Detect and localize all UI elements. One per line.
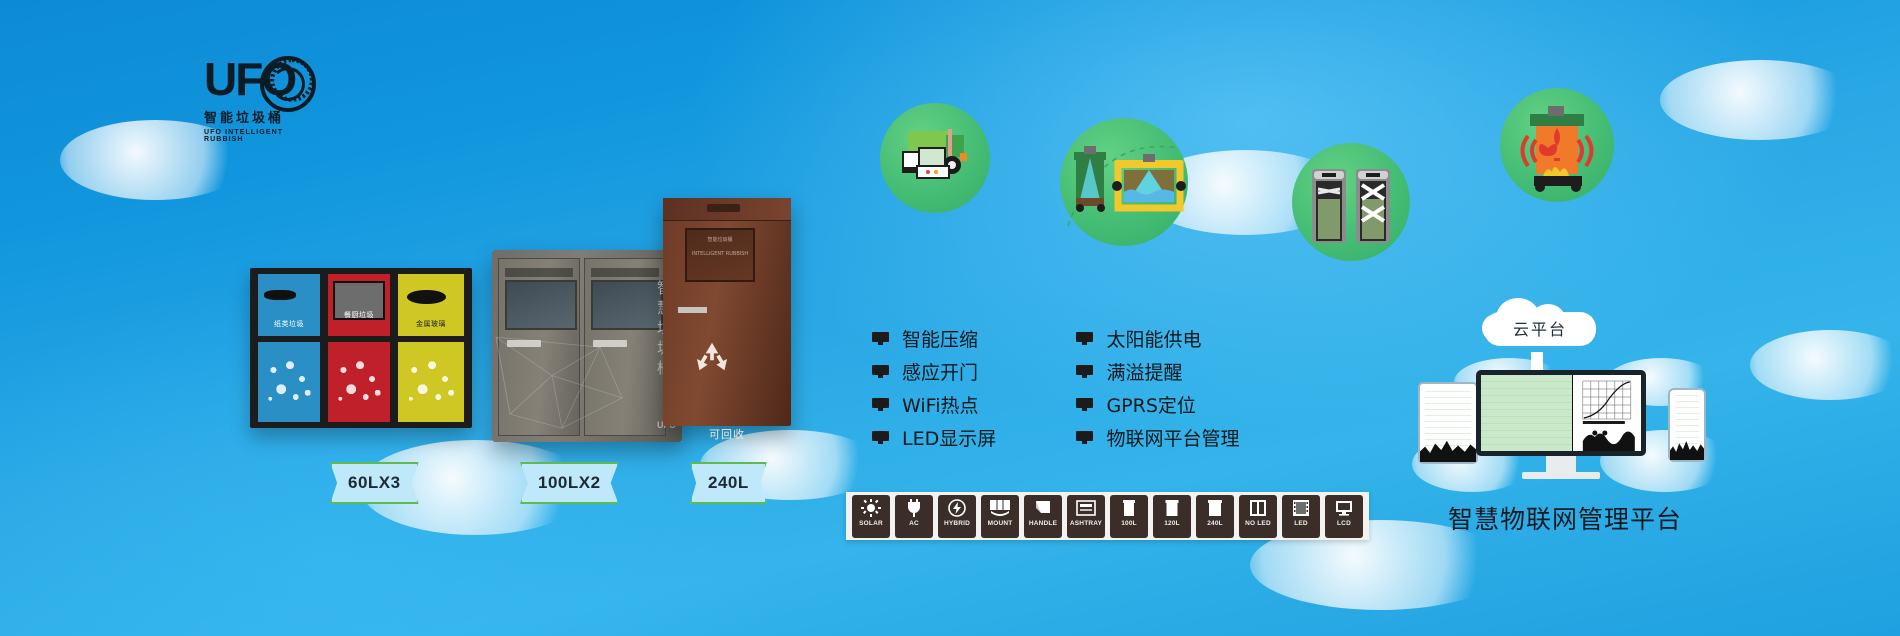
- mount-icon: [987, 498, 1013, 518]
- bin-slot-opening: [264, 290, 296, 300]
- device-tablet: [1418, 382, 1478, 464]
- spec-icon-lcd: LCD: [1325, 495, 1363, 538]
- spec-icon-label: SOLAR: [859, 520, 883, 527]
- spec-icon-ac: AC: [895, 495, 933, 538]
- spec-icon-label: AC: [909, 520, 919, 527]
- feature-item: LED显示屏: [872, 421, 1072, 454]
- spec-icon-mount: MOUNT: [981, 495, 1019, 538]
- chart-panel: [1572, 375, 1641, 451]
- feature-label: 物联网平台管理: [1106, 424, 1239, 451]
- monitor-icon: [872, 398, 889, 411]
- map-panel: [1481, 375, 1572, 451]
- monitor-icon: [1076, 431, 1093, 444]
- device-desktop-monitor: [1476, 370, 1646, 456]
- spec-icon-solar: SOLAR: [852, 495, 890, 538]
- monitor-icon: [872, 365, 889, 378]
- spec-icon-handle: HANDLE: [1024, 495, 1062, 538]
- bin-front-label: 可回收: [663, 426, 791, 442]
- spec-icon-strip: SOLAR AC HYBRID MOUNT HANDLE: [846, 492, 1369, 540]
- compaction-icon: [1292, 143, 1410, 261]
- recycle-icon: [691, 339, 733, 379]
- feature-circle-fill-sensor: [1060, 118, 1188, 246]
- brand-logo: UFO 智能垃圾桶 UFO INTELLIGENT RUBBISH: [204, 56, 314, 148]
- capacity-label: 240L: [708, 473, 749, 493]
- cloud-platform-badge: 云平台: [1476, 296, 1604, 354]
- poster-canvas: UFO 智能垃圾桶 UFO INTELLIGENT RUBBISH 纸类垃圾 餐…: [0, 0, 1900, 636]
- feature-item: WiFi热点: [872, 388, 1072, 421]
- platform-title: 智慧物联网管理平台: [1440, 500, 1690, 536]
- feature-circle-collection-truck: [880, 103, 990, 213]
- sun-icon: [858, 498, 884, 518]
- spec-icon-ashtray: ASHTRAY: [1067, 495, 1105, 538]
- spec-icon-label: NO LED: [1245, 520, 1271, 527]
- bin-100l-icon: [1116, 498, 1142, 518]
- monitor-icon: [1076, 332, 1093, 345]
- spec-icon-label: MOUNT: [988, 520, 1013, 527]
- monitor-icon: [1076, 398, 1093, 411]
- spec-icon-no-led: NO LED: [1239, 495, 1277, 538]
- feature-item: 感应开门: [872, 355, 1072, 388]
- platform-devices: [1418, 352, 1710, 492]
- bin-info-screen: 智能垃圾桶 INTELLIGENT RUBBISH: [685, 228, 756, 282]
- spec-icon-label: 240L: [1207, 520, 1223, 527]
- feature-label: 感应开门: [902, 358, 978, 385]
- feature-label: GPRS定位: [1106, 391, 1195, 418]
- capacity-banner-60lx3: 60LX3: [330, 462, 419, 504]
- monitor-icon: [872, 431, 889, 444]
- plug-icon: [901, 498, 927, 518]
- spec-icon-100l: 100L: [1110, 495, 1148, 538]
- feature-item: 智能压缩: [872, 322, 1072, 355]
- device-smartphone: [1668, 388, 1706, 462]
- feature-item: 太阳能供电: [1076, 322, 1291, 355]
- hybrid-power-icon: [944, 498, 970, 518]
- bin-display-screen: [591, 280, 662, 330]
- bin-brown-recycling: 智能垃圾桶 INTELLIGENT RUBBISH 可回收: [663, 198, 791, 426]
- spec-icon-label: 120L: [1164, 520, 1180, 527]
- spec-icon-label: LED: [1294, 520, 1308, 527]
- fire-alarm-icon: [1500, 88, 1614, 202]
- spec-icon-240l: 240L: [1196, 495, 1234, 538]
- feature-item: 物联网平台管理: [1076, 421, 1291, 454]
- handle-icon: [1030, 498, 1056, 518]
- compartment-label: 餐厨垃圾: [328, 310, 390, 320]
- cloud-decoration: [1750, 330, 1900, 400]
- bin-smart-double: 智慧垃圾桶 UFO: [492, 250, 682, 442]
- monitor-icon: [1076, 365, 1093, 378]
- ufo-ring-ticks-icon: [270, 58, 314, 102]
- capacity-banner-100lx2: 100LX2: [520, 462, 619, 504]
- feature-column-left: 智能压缩 感应开门 WiFi热点 LED显示屏: [872, 322, 1072, 454]
- logo-english-name: UFO INTELLIGENT RUBBISH: [204, 129, 314, 143]
- spec-icon-label: HANDLE: [1029, 520, 1057, 527]
- feature-label: 满溢提醒: [1106, 358, 1182, 385]
- capacity-label: 60LX3: [348, 473, 401, 493]
- bin-three-compartment: 纸类垃圾 餐厨垃圾 金属玻璃: [250, 268, 472, 428]
- capacity-banner-240l: 240L: [690, 462, 767, 504]
- no-led-icon: [1245, 498, 1271, 518]
- ashtray-icon: [1073, 498, 1099, 518]
- capacity-label: 100LX2: [538, 473, 601, 493]
- feature-list: 智能压缩 感应开门 WiFi热点 LED显示屏 太阳能供电 满溢提醒: [872, 322, 1292, 454]
- spec-icon-led: LED: [1282, 495, 1320, 538]
- feature-item: 满溢提醒: [1076, 355, 1291, 388]
- cloud-decoration: [1660, 60, 1860, 140]
- spec-icon-label: HYBRID: [944, 520, 970, 527]
- feature-label: 太阳能供电: [1106, 325, 1201, 352]
- spec-icon-label: ASHTRAY: [1070, 520, 1102, 527]
- compartment-label: 纸类垃圾: [258, 319, 320, 329]
- bin-120l-icon: [1159, 498, 1185, 518]
- compartment-label: 金属玻璃: [398, 319, 464, 329]
- cloud-platform-label: 云平台: [1476, 316, 1604, 340]
- feature-label: LED显示屏: [902, 424, 996, 451]
- feature-circle-fire-alarm: [1500, 88, 1614, 202]
- spec-icon-label: LCD: [1337, 520, 1351, 527]
- spec-icon-hybrid: HYBRID: [938, 495, 976, 538]
- spec-icon-120l: 120L: [1153, 495, 1191, 538]
- bin-display-screen: [505, 280, 576, 330]
- collection-truck-icon: [880, 103, 990, 213]
- bin-screen-line1: 智能垃圾桶: [687, 237, 754, 244]
- feature-item: GPRS定位: [1076, 388, 1291, 421]
- bin-screen-line2: INTELLIGENT RUBBISH: [687, 251, 754, 258]
- led-icon: [1288, 498, 1314, 518]
- fill-level-sensor-icon: [1060, 118, 1188, 246]
- lcd-icon: [1331, 498, 1357, 518]
- monitor-icon: [872, 332, 889, 345]
- feature-circle-compaction: [1292, 143, 1410, 261]
- feature-column-right: 太阳能供电 满溢提醒 GPRS定位 物联网平台管理: [1076, 322, 1291, 454]
- feature-label: 智能压缩: [902, 325, 978, 352]
- feature-label: WiFi热点: [902, 391, 978, 418]
- spec-icon-label: 100L: [1121, 520, 1137, 527]
- bin-240l-icon: [1202, 498, 1228, 518]
